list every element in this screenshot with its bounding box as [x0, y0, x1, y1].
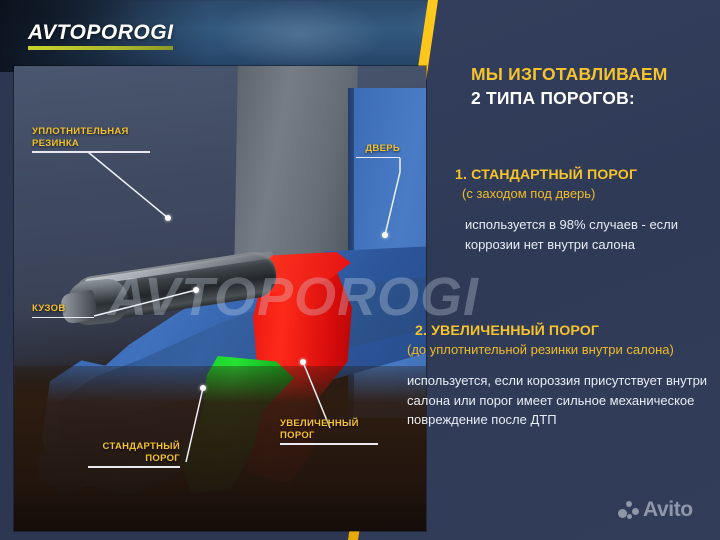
callout-seal-underline	[32, 151, 150, 153]
avito-wordmark: Avito	[643, 500, 693, 520]
callout-door: ДВЕРЬ	[356, 143, 400, 158]
callout-enlarged-underline	[280, 443, 378, 445]
callout-standard-sill: СТАНДАРТНЫЙ ПОРОГ	[88, 441, 180, 468]
callout-body-underline	[32, 317, 94, 319]
headline-line-2: 2 ТИПА ПОРОГОВ:	[471, 86, 711, 110]
callout-standard-label-line2: ПОРОГ	[88, 453, 180, 465]
callout-dot-enlarged	[300, 359, 306, 365]
callout-door-underline	[356, 157, 400, 159]
sill-type-1-subtitle: (с заходом под дверь)	[452, 185, 710, 203]
sill-type-1-body: используется в 98% случаев - если корроз…	[452, 215, 710, 254]
callout-standard-underline	[88, 466, 180, 468]
callout-seal-label-line2: РЕЗИНКА	[32, 138, 150, 150]
avito-watermark: Avito	[618, 500, 693, 520]
infographic-stage: AVTOPOROGI AVTOPOROGI	[0, 0, 720, 540]
callout-door-label: ДВЕРЬ	[356, 143, 400, 155]
callout-enlarged-label-line1: УВЕЛИЧЕННЫЙ	[280, 418, 378, 430]
headline-line-1: МЫ ИЗГОТАВЛИВАЕМ	[471, 62, 711, 86]
sill-type-2-title: 2. УВЕЛИЧЕННЫЙ ПОРОГ	[404, 322, 712, 341]
callout-dot-standard	[200, 385, 206, 391]
callout-standard-label-line1: СТАНДАРТНЫЙ	[88, 441, 180, 453]
brand-logo: AVTOPOROGI	[28, 22, 173, 50]
callout-dot-body	[193, 287, 199, 293]
callout-seal-label-line1: УПЛОТНИТЕЛЬНАЯ	[32, 126, 150, 138]
ground-shadow	[14, 366, 426, 531]
sill-type-block-1: 1. СТАНДАРТНЫЙ ПОРОГ (с заходом под двер…	[452, 166, 710, 254]
brand-logo-text: AVTOPOROGI	[28, 22, 173, 43]
callout-dot-door	[382, 232, 388, 238]
callout-enlarged-label-line2: ПОРОГ	[280, 430, 378, 442]
callout-seal: УПЛОТНИТЕЛЬНАЯ РЕЗИНКА	[32, 126, 150, 153]
sill-type-2-subtitle: (до уплотнительной резинки внутри салона…	[404, 341, 712, 359]
callout-dot-seal	[165, 215, 171, 221]
brand-logo-underline	[28, 46, 173, 50]
sill-type-block-2: 2. УВЕЛИЧЕННЫЙ ПОРОГ (до уплотнительной …	[404, 322, 712, 430]
callout-body: КУЗОВ	[32, 303, 94, 318]
callout-enlarged-sill: УВЕЛИЧЕННЫЙ ПОРОГ	[280, 418, 378, 445]
sill-type-2-body: используется, если короззия присутствует…	[404, 371, 712, 430]
avito-logo-icon	[618, 500, 639, 520]
inner-metal-panel-shape	[234, 66, 358, 277]
sill-type-1-title: 1. СТАНДАРТНЫЙ ПОРОГ	[452, 166, 710, 185]
headline: МЫ ИЗГОТАВЛИВАЕМ 2 ТИПА ПОРОГОВ:	[471, 62, 711, 110]
callout-body-label: КУЗОВ	[32, 303, 94, 315]
